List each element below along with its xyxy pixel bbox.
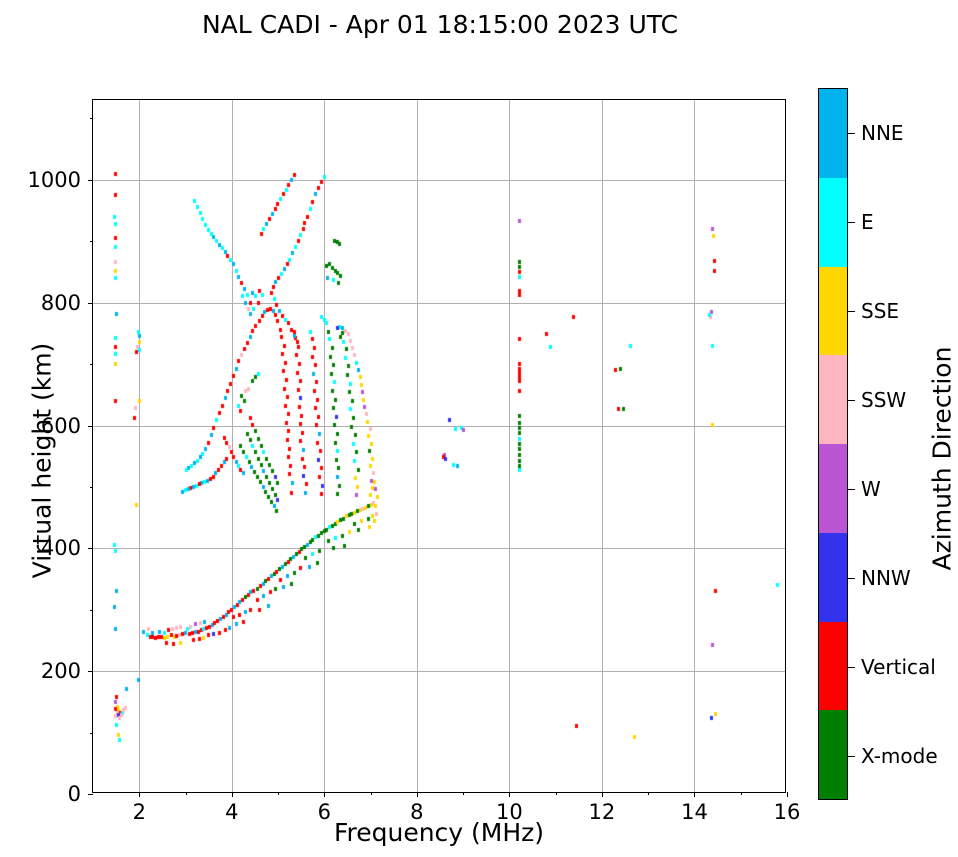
colorbar-tick [848,311,855,312]
colorbar [818,88,848,800]
x-tick [417,792,418,797]
colorbar-segment-e [819,178,847,267]
colorbar-segment-nnw [819,533,847,622]
ionogram-figure: NAL CADI - Apr 01 18:15:00 2023 UTC 2468… [0,0,958,857]
y-tick [88,426,93,427]
y-tick-minor [90,118,93,119]
x-tick [694,792,695,797]
colorbar-tick [848,489,855,490]
y-tick [88,671,93,672]
y-tick-minor [90,487,93,488]
colorbar-label: Azimuth Direction [928,309,957,609]
x-tick [232,792,233,797]
x-tick-minor [278,792,279,795]
x-tick-minor [186,792,187,795]
colorbar-segment-vertical [819,622,847,711]
y-tick [88,794,93,795]
colorbar-label-ssw: SSW [861,388,906,412]
colorbar-tick [848,756,855,757]
y-tick-label: 0 [68,782,81,806]
colorbar-label-nne: NNE [861,121,904,145]
colorbar-label-x-mode: X-mode [861,744,938,768]
y-tick-minor [90,733,93,734]
x-tick [139,792,140,797]
x-tick-minor [463,792,464,795]
y-tick [88,303,93,304]
chart-title: NAL CADI - Apr 01 18:15:00 2023 UTC [0,10,880,39]
colorbar-label-e: E [861,210,874,234]
colorbar-label-nnw: NNW [861,566,911,590]
colorbar-segment-ssw [819,355,847,444]
colorbar-segment-w [819,444,847,533]
y-tick-minor [90,241,93,242]
colorbar-label-sse: SSE [861,299,899,323]
plot-area: 24681012141602004006008001000 [92,99,786,793]
scatter-canvas [93,100,787,794]
x-tick [324,792,325,797]
colorbar-segment-nne [819,89,847,178]
x-tick-minor [648,792,649,795]
x-tick-minor [371,792,372,795]
y-axis-label: Virtual height (km) [28,181,57,741]
colorbar-tick [848,133,855,134]
x-tick [602,792,603,797]
colorbar-label-w: W [861,477,881,501]
x-tick-minor [556,792,557,795]
x-tick [509,792,510,797]
y-tick [88,180,93,181]
x-axis-label: Frequency (MHz) [92,818,786,847]
colorbar-tick [848,667,855,668]
colorbar-tick [848,578,855,579]
x-tick-minor [741,792,742,795]
colorbar-ticks: NNEESSESSWWNNWVerticalX-mode [848,88,938,800]
x-tick [787,792,788,797]
colorbar-segment-sse [819,267,847,356]
y-tick-minor [90,610,93,611]
y-tick [88,548,93,549]
colorbar-tick [848,222,855,223]
y-tick-minor [90,364,93,365]
colorbar-tick [848,400,855,401]
colorbar-segment-x-mode [819,710,847,799]
colorbar-label-vertical: Vertical [861,655,936,679]
